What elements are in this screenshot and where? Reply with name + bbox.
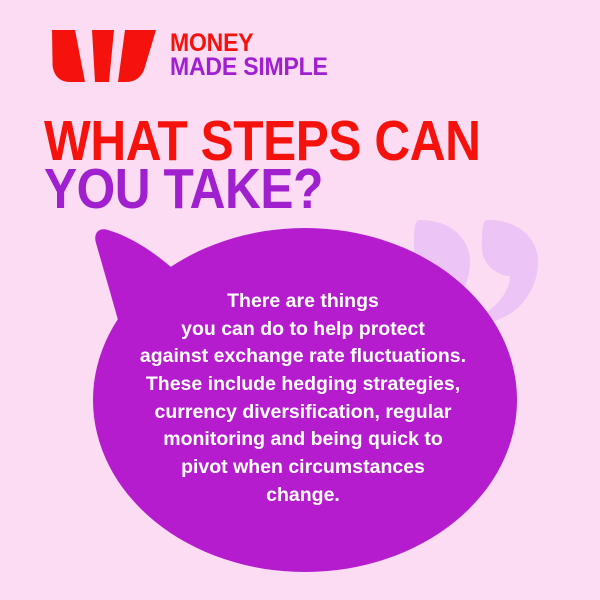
social-post-canvas: MONEY MADE SIMPLE WHAT STEPS CAN YOU TAK… — [0, 0, 600, 600]
speech-bubble-body: There are things you can do to help prot… — [98, 288, 508, 510]
body-line: There are things — [98, 288, 508, 316]
body-line: you can do to help protect — [98, 316, 508, 344]
brand-wordmark-line-2: MADE SIMPLE — [170, 56, 328, 80]
brand-lockup: MONEY MADE SIMPLE — [52, 30, 341, 82]
body-line: currency diversification, regular — [98, 399, 508, 427]
body-line: against exchange rate fluctuations. — [98, 343, 508, 371]
body-line: change. — [98, 482, 508, 510]
headline-line-2: YOU TAKE? — [44, 166, 488, 214]
page-title: WHAT STEPS CAN YOU TAKE? — [44, 118, 554, 214]
westpac-w-logo-icon — [52, 30, 156, 82]
body-line: These include hedging strategies, — [98, 371, 508, 399]
body-line: pivot when circumstances — [98, 454, 508, 482]
brand-wordmark: MONEY MADE SIMPLE — [170, 32, 341, 79]
body-line: monitoring and being quick to — [98, 426, 508, 454]
